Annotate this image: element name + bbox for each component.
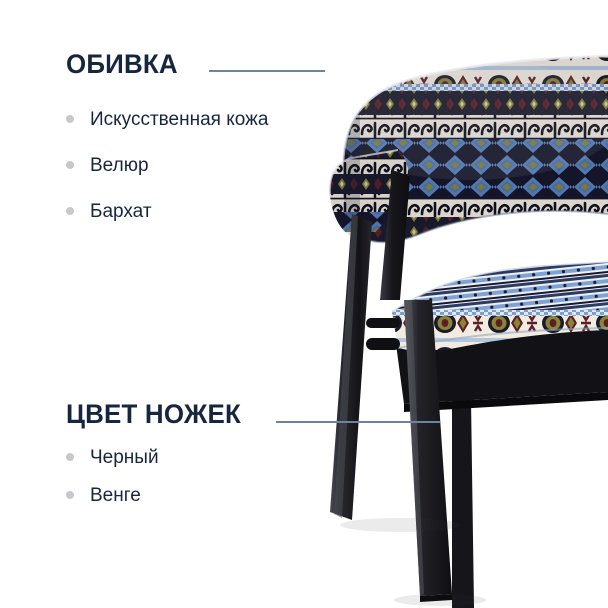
option-label: Бархат bbox=[90, 202, 152, 221]
infographic-canvas: ОБИВКА Искусственная кожа Велюр Бархат Ц… bbox=[0, 0, 608, 608]
leader-line-legcolor bbox=[276, 421, 440, 423]
option-list-legcolor: Черный Венге bbox=[66, 438, 248, 514]
bullet-icon bbox=[66, 161, 74, 169]
list-item[interactable]: Искусственная кожа bbox=[66, 96, 268, 142]
bullet-icon bbox=[66, 207, 74, 215]
option-label: Искусственная кожа bbox=[90, 110, 268, 129]
list-item[interactable]: Бархат bbox=[66, 188, 268, 234]
heading-upholstery: ОБИВКА bbox=[66, 50, 260, 78]
option-label: Черный bbox=[90, 448, 159, 467]
heading-legcolor: ЦВЕТ НОЖЕК bbox=[66, 400, 241, 428]
spec-block-legcolor: ЦВЕТ НОЖЕК Черный Венге bbox=[66, 400, 248, 514]
list-item[interactable]: Велюр bbox=[66, 142, 268, 188]
bullet-icon bbox=[66, 491, 74, 499]
spec-block-upholstery: ОБИВКА Искусственная кожа Велюр Бархат bbox=[66, 50, 268, 234]
list-item[interactable]: Венге bbox=[66, 476, 248, 514]
bullet-icon bbox=[66, 115, 74, 123]
leader-line-upholstery bbox=[209, 70, 325, 72]
option-label: Велюр bbox=[90, 156, 149, 175]
bullet-icon bbox=[66, 453, 74, 461]
option-label: Венге bbox=[90, 486, 141, 505]
option-list-upholstery: Искусственная кожа Велюр Бархат bbox=[66, 96, 268, 234]
list-item[interactable]: Черный bbox=[66, 438, 248, 476]
